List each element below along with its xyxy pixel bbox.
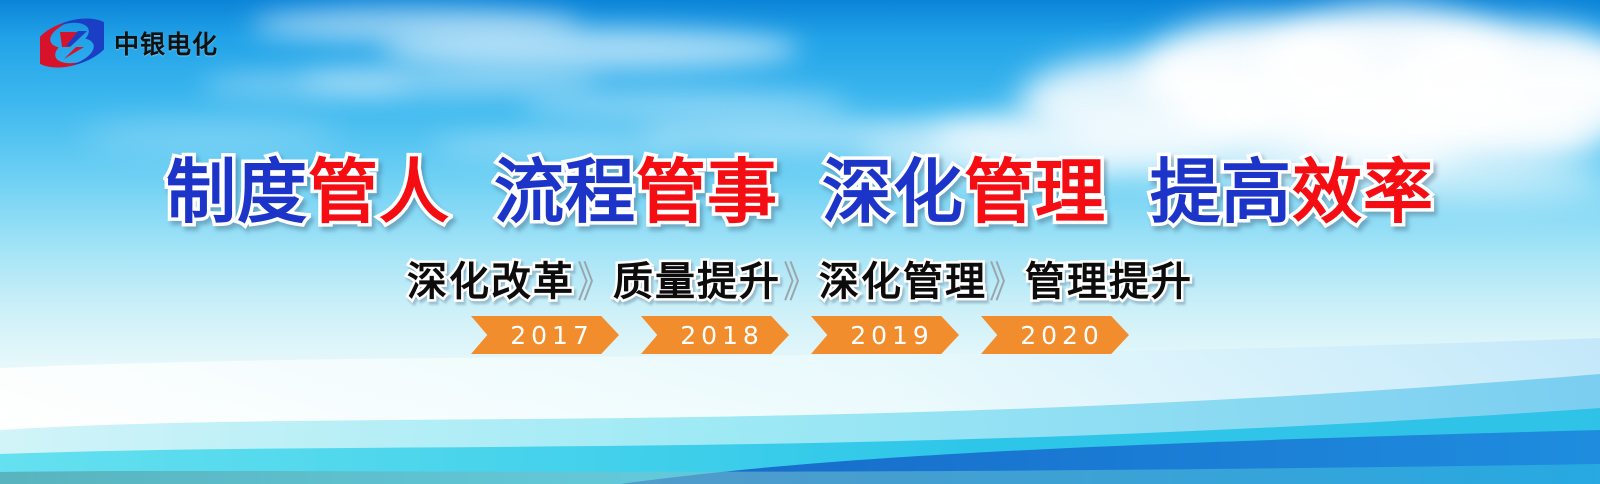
cloud-wisp <box>380 28 800 70</box>
headline-phrase: 深化 管理 <box>822 157 1106 227</box>
zhongyin-dianhua-logo-mark <box>40 16 104 70</box>
headline-blue-text: 深化 <box>822 157 964 227</box>
company-logo[interactable]: 中银电化 <box>40 16 218 70</box>
headline-slogan: 制度 管人 流程 管事 深化 管理 提高 效率 <box>0 157 1600 227</box>
headline-blue-text: 制度 <box>166 157 308 227</box>
headline-red-text: 管理 <box>964 157 1106 227</box>
year-label: 2019 <box>836 323 934 348</box>
chevron-separator-icon: 》 <box>575 248 613 314</box>
subtitle-roadmap: 深化改革 》 质量提升 》 深化管理 》 管理提升 <box>0 255 1600 308</box>
headline-phrase: 提高 效率 <box>1150 157 1434 227</box>
headline-phrase: 制度 管人 <box>166 157 450 227</box>
headline-red-text: 管人 <box>308 157 450 227</box>
year-label: 2018 <box>666 323 764 348</box>
company-name-text: 中银电化 <box>114 25 218 61</box>
headline-red-text: 管事 <box>636 157 778 227</box>
year-label: 2017 <box>496 323 594 348</box>
subtitle-item: 质量提升 <box>613 262 781 302</box>
headline-blue-text: 流程 <box>494 157 636 227</box>
year-chevron: 2020 <box>981 316 1129 354</box>
headline-phrase: 流程 管事 <box>494 157 778 227</box>
headline-blue-text: 提高 <box>1150 157 1292 227</box>
subtitle-item: 深化改革 <box>407 262 575 302</box>
subtitle-item: 深化管理 <box>819 262 987 302</box>
cloud-wisp <box>80 120 340 150</box>
promotional-banner: 中银电化 制度 管人 流程 管事 深化 管理 提高 效率 深化改革 》 质量提升… <box>0 0 1600 484</box>
headline-red-text: 效率 <box>1292 157 1434 227</box>
year-label: 2020 <box>1006 323 1104 348</box>
year-chevron: 2017 <box>471 316 619 354</box>
timeline-years: 2017 2018 2019 2020 <box>0 316 1600 354</box>
chevron-separator-icon: 》 <box>987 248 1025 314</box>
wave-decoration <box>0 334 1600 484</box>
cloud-wisp <box>520 90 850 120</box>
year-chevron: 2018 <box>641 316 789 354</box>
subtitle-item: 管理提升 <box>1025 262 1193 302</box>
cloud-wisp <box>200 72 410 98</box>
year-chevron: 2019 <box>811 316 959 354</box>
chevron-separator-icon: 》 <box>781 248 819 314</box>
